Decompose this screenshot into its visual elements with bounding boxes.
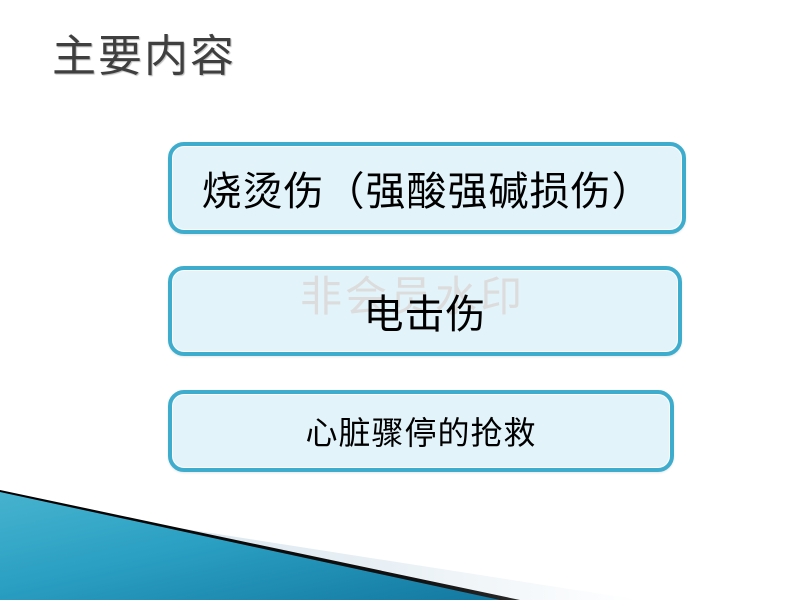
content-box-cardiac-arrest-rescue[interactable]: 心脏骤停的抢救 (168, 390, 674, 472)
content-box-label: 电击伤 (364, 282, 487, 340)
content-box-label: 心脏骤停的抢救 (305, 408, 536, 454)
content-box-burn-injury[interactable]: 烧烫伤（强酸强碱损伤） (168, 142, 686, 234)
content-box-label: 烧烫伤（强酸强碱损伤） (202, 159, 653, 217)
content-box-electric-injury[interactable]: 电击伤 (168, 266, 682, 356)
slide-canvas: 主要内容 非会员水印 烧烫伤（强酸强碱损伤） 电击伤 心脏骤停的抢救 (0, 0, 800, 600)
content-box-list: 烧烫伤（强酸强碱损伤） 电击伤 心脏骤停的抢救 (0, 0, 800, 600)
